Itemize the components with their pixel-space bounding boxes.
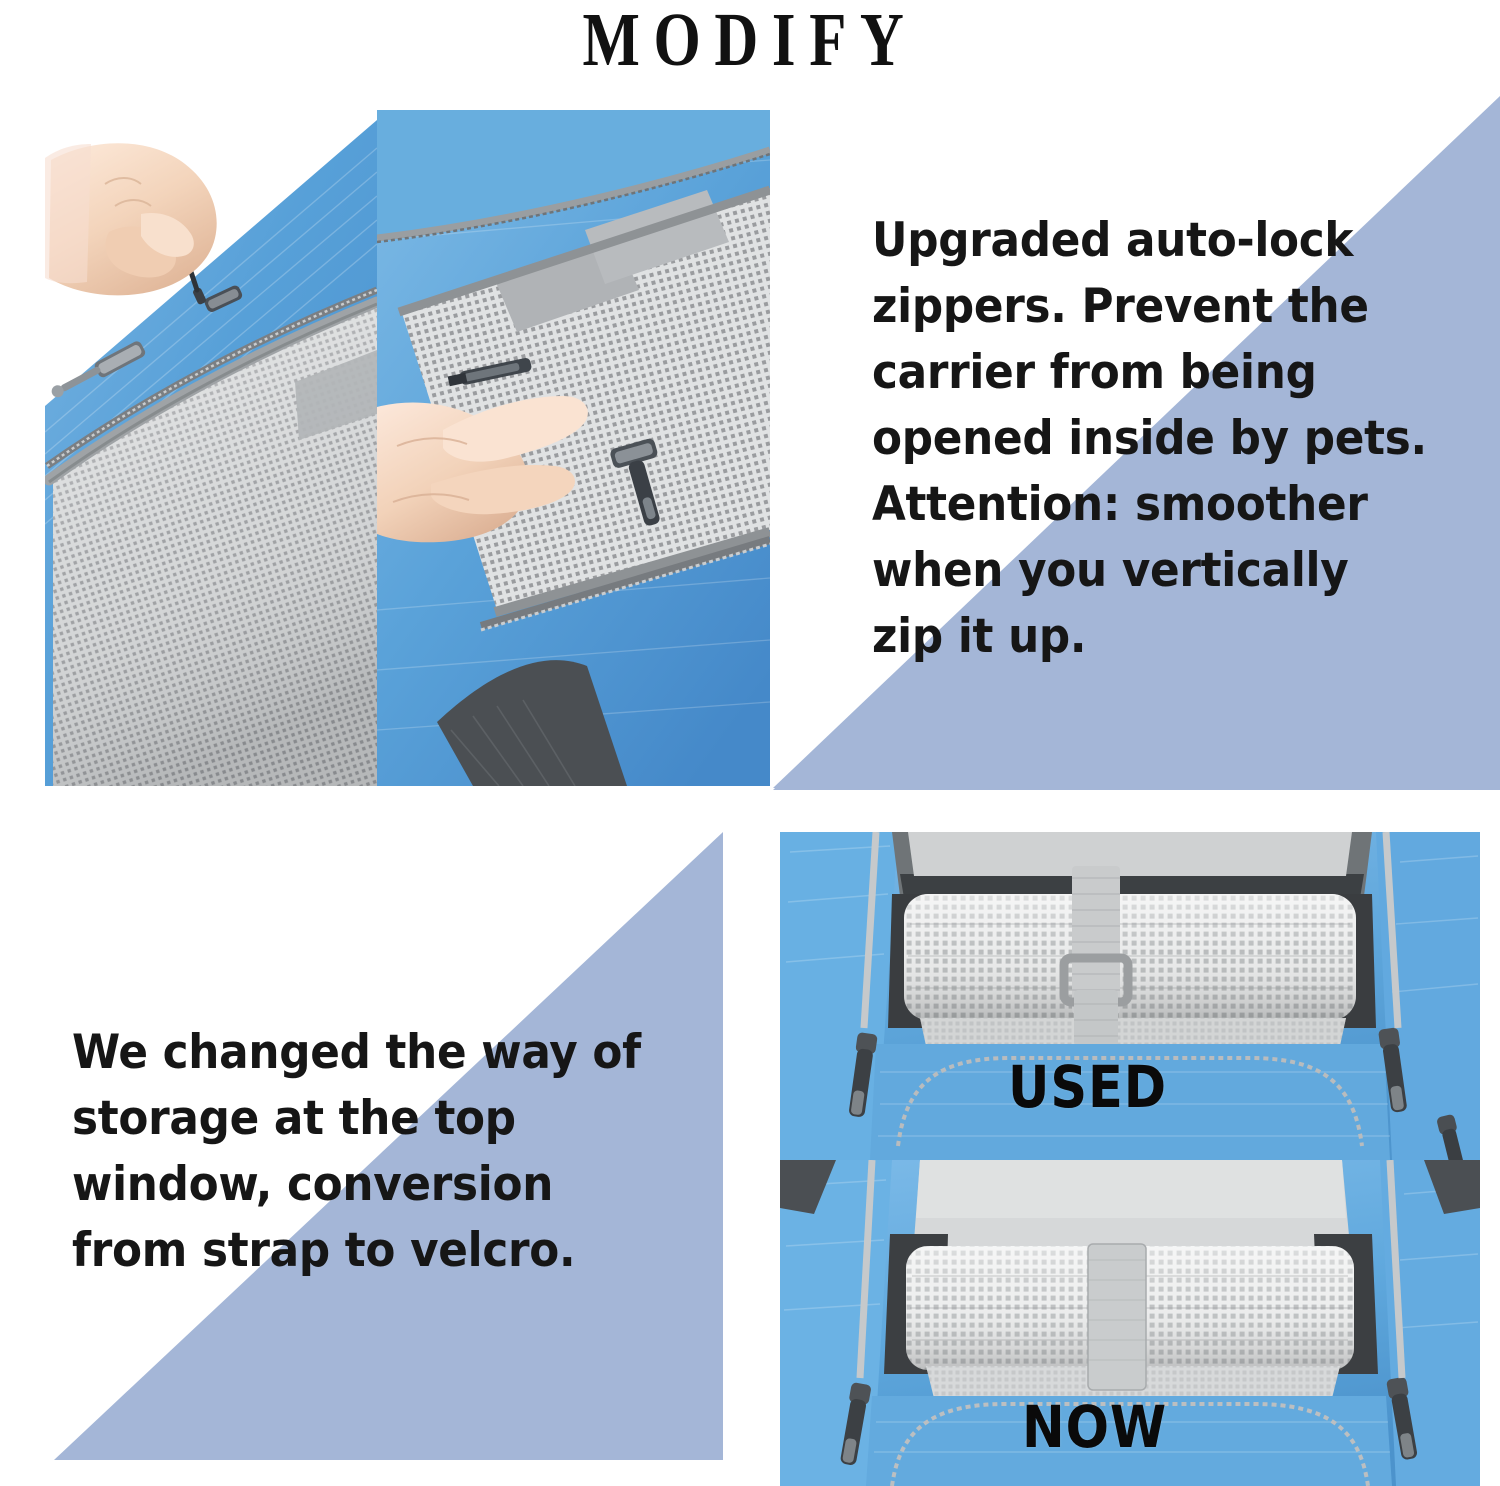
page-title: MODIFY bbox=[150, 0, 1350, 82]
infographic-page: MODIFY bbox=[0, 0, 1500, 1486]
photo-zipper-pull-closeup bbox=[45, 114, 377, 786]
feature-text-storage: We changed the way of storage at the top… bbox=[72, 1020, 649, 1284]
label-now: NOW bbox=[1022, 1398, 1167, 1456]
label-used: USED bbox=[1008, 1058, 1167, 1116]
photo-zipper-mesh-panel-closeup bbox=[377, 110, 770, 786]
feature-text-zippers: Upgraded auto-lock zippers. Prevent the … bbox=[872, 208, 1430, 670]
velcro-strap bbox=[1088, 1244, 1146, 1390]
